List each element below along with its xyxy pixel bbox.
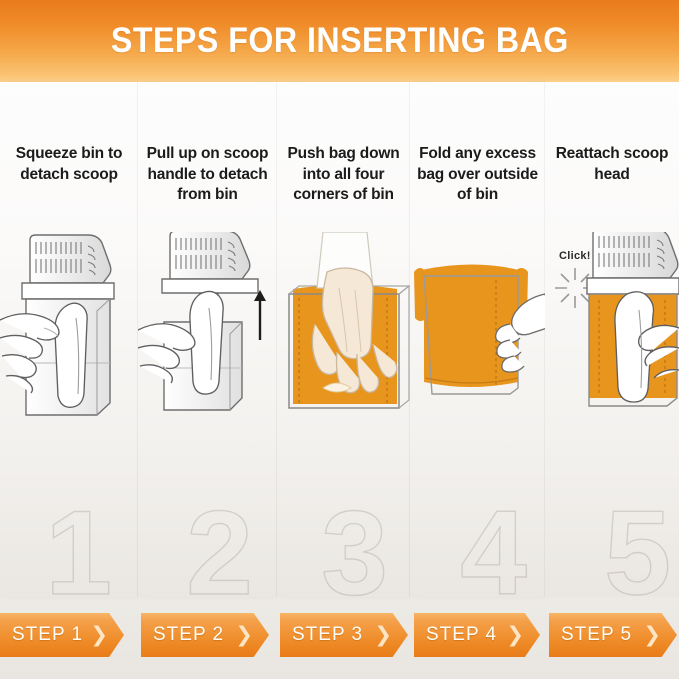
step-panel-4: Fold any excess bag over outside of bin … (410, 82, 545, 597)
step-watermark-4: 4 (460, 493, 527, 597)
step-caption-5: Reattach scoop head (545, 144, 679, 185)
step-chip-3[interactable]: STEP 3 ❯ (280, 613, 408, 657)
chevron-right-icon: ❯ (506, 625, 524, 646)
step-caption-2: Pull up on scoop handle to detach from b… (138, 144, 277, 206)
step-slot-5: STEP 5 ❯ (545, 597, 679, 679)
chevron-right-icon: ❯ (90, 625, 108, 646)
step-chip-label-5: STEP 5 (549, 624, 632, 646)
page-title: STEPS FOR INSERTING BAG (111, 21, 569, 61)
illustration-push-bag-into-bin (277, 232, 410, 497)
chevron-right-icon: ❯ (643, 625, 661, 646)
chevron-right-icon: ❯ (374, 625, 392, 646)
header-banner: STEPS FOR INSERTING BAG (0, 0, 679, 82)
step-slot-1: STEP 1 ❯ (0, 597, 138, 679)
infographic-root: STEPS FOR INSERTING BAG Squeeze bin to d… (0, 0, 679, 679)
step-watermark-5: 5 (604, 493, 671, 597)
step-panel-1: Squeeze bin to detach scoop 1 (0, 82, 138, 597)
illustration-fold-bag-over-bin (410, 232, 545, 497)
step-label-bar: STEP 1 ❯ STEP 2 ❯ STEP 3 ❯ STEP 4 ❯ STEP (0, 597, 679, 679)
step-chip-4[interactable]: STEP 4 ❯ (414, 613, 540, 657)
step-chip-1[interactable]: STEP 1 ❯ (0, 613, 124, 657)
step-slot-4: STEP 4 ❯ (410, 597, 545, 679)
illustration-squeeze-bin (0, 232, 138, 497)
step-caption-3: Push bag down into all four corners of b… (277, 144, 410, 206)
step-chip-label-4: STEP 4 (414, 624, 497, 646)
chevron-right-icon: ❯ (235, 625, 253, 646)
step-panel-2: Pull up on scoop handle to detach from b… (138, 82, 277, 597)
step-watermark-2: 2 (186, 493, 253, 597)
click-annotation: Click! (559, 250, 591, 262)
illustration-pull-scoop-up (138, 232, 277, 497)
step-chip-label-3: STEP 3 (280, 624, 363, 646)
step-panel-5: Reattach scoop head 5 Click! (545, 82, 679, 597)
step-chip-2[interactable]: STEP 2 ❯ (141, 613, 269, 657)
step-chip-5[interactable]: STEP 5 ❯ (549, 613, 677, 657)
step-watermark-3: 3 (321, 493, 388, 597)
step-chip-label-2: STEP 2 (141, 624, 224, 646)
illustration-reattach-scoop-head: Click! (545, 232, 679, 497)
step-slot-2: STEP 2 ❯ (138, 597, 277, 679)
step-chip-label-1: STEP 1 (0, 624, 83, 646)
step-caption-4: Fold any excess bag over outside of bin (410, 144, 545, 206)
step-caption-1: Squeeze bin to detach scoop (0, 144, 138, 185)
steps-panel-row: Squeeze bin to detach scoop 1 (0, 82, 679, 597)
step-slot-3: STEP 3 ❯ (277, 597, 410, 679)
step-watermark-1: 1 (45, 493, 112, 597)
step-panel-3: Push bag down into all four corners of b… (277, 82, 410, 597)
